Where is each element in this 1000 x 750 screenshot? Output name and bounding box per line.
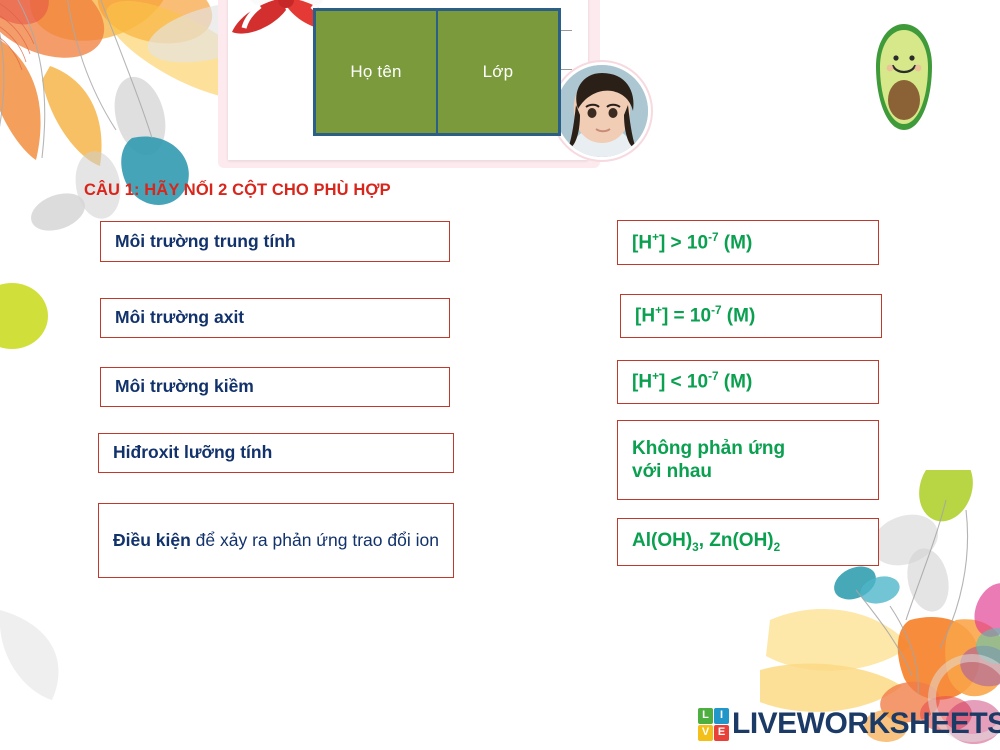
r5-a: Al(OH) xyxy=(632,530,692,551)
r2-mid: ] = 10 xyxy=(662,306,711,327)
match-item-left-2[interactable]: Môi trường axit xyxy=(100,298,450,338)
liveworksheets-badge-icon: L I V E xyxy=(698,708,729,741)
badge-letter-i: I xyxy=(714,708,729,724)
leaf-blob-decoration xyxy=(0,600,80,710)
r2-sup2: -7 xyxy=(711,304,721,317)
match-item-right-1-label: [H+] > 10-7 (M) xyxy=(632,231,752,255)
match-item-left-3[interactable]: Môi trường kiềm xyxy=(100,367,450,407)
badge-letter-l: L xyxy=(698,708,713,724)
student-info-table: Họ tên Lớp xyxy=(313,8,561,136)
r3-mid: ] < 10 xyxy=(659,372,708,393)
match-item-right-3[interactable]: [H+] < 10-7 (M) xyxy=(617,360,879,404)
match-item-right-3-label: [H+] < 10-7 (M) xyxy=(632,370,752,394)
liveworksheets-logo[interactable]: L I V E LIVEWORKSHEETS xyxy=(698,703,1000,745)
match-item-right-1[interactable]: [H+] > 10-7 (M) xyxy=(617,220,879,265)
match-item-right-2-label: [H+] = 10-7 (M) xyxy=(635,304,755,328)
avocado-sticker-icon xyxy=(866,16,942,140)
badge-letter-v: V xyxy=(698,725,713,741)
match-item-left-1-label: Môi trường trung tính xyxy=(115,231,296,252)
match-item-left-4[interactable]: Hiđroxit lưỡng tính xyxy=(98,433,454,473)
match-item-left-5-label: Điều kiện để xảy ra phản ứng trao đổi io… xyxy=(113,530,439,551)
match-item-right-4[interactable]: Không phản ứng với nhau xyxy=(617,420,879,500)
match-item-right-2[interactable]: [H+] = 10-7 (M) xyxy=(620,294,882,338)
green-blob-decoration xyxy=(0,278,52,356)
liveworksheets-wordmark: LIVEWORKSHEETS xyxy=(732,709,1000,739)
question-title: CÂU 1: HÃY NỐI 2 CỘT CHO PHÙ HỢP xyxy=(84,181,391,200)
match-item-right-5-label: Al(OH)3, Zn(OH)2 xyxy=(632,529,780,555)
badge-letter-e: E xyxy=(714,725,729,741)
r3-tail: (M) xyxy=(719,372,753,393)
r1-sup2: -7 xyxy=(708,231,718,244)
match-item-right-5[interactable]: Al(OH)3, Zn(OH)2 xyxy=(617,518,879,566)
table-cell-class[interactable]: Lớp xyxy=(438,11,558,133)
r2-sup1: + xyxy=(655,304,662,317)
match-item-left-1[interactable]: Môi trường trung tính xyxy=(100,221,450,262)
match-item-left-5[interactable]: Điều kiện để xảy ra phản ứng trao đổi io… xyxy=(98,503,454,578)
table-cell-class-label: Lớp xyxy=(483,62,514,82)
worksheet-page: Họ tên Lớp CÂU 1: HÃY NỐI 2 CỘT CHO PHÙ … xyxy=(0,0,1000,750)
match-item-left-5-bold: Điều kiện xyxy=(113,530,191,550)
r5-b-sub: 2 xyxy=(774,541,781,554)
r1-mid: ] > 10 xyxy=(659,232,708,253)
match-item-left-4-label: Hiđroxit lưỡng tính xyxy=(113,442,272,463)
r1-tail: (M) xyxy=(719,232,753,253)
r1-sup1: + xyxy=(652,231,659,244)
match-item-right-4-label: Không phản ứng với nhau xyxy=(632,437,785,483)
gray-blob-decoration xyxy=(28,192,88,232)
table-cell-name-label: Họ tên xyxy=(350,62,401,82)
r2-tail: (M) xyxy=(722,306,756,327)
r2-base: [H xyxy=(635,306,655,327)
r4-line2: với nhau xyxy=(632,461,712,482)
r4-line1: Không phản ứng xyxy=(632,438,785,459)
student-photo-avatar xyxy=(553,62,651,160)
r3-sup1: + xyxy=(652,370,659,383)
r1-base: [H xyxy=(632,232,652,253)
r3-sup2: -7 xyxy=(708,370,718,383)
match-item-left-5-rest: để xảy ra phản ứng trao đổi ion xyxy=(191,530,439,550)
r5-comma: , Zn(OH) xyxy=(699,530,774,551)
match-item-left-2-label: Môi trường axit xyxy=(115,307,244,328)
match-item-left-3-label: Môi trường kiềm xyxy=(115,376,254,397)
r3-base: [H xyxy=(632,372,652,393)
table-cell-name[interactable]: Họ tên xyxy=(316,11,438,133)
